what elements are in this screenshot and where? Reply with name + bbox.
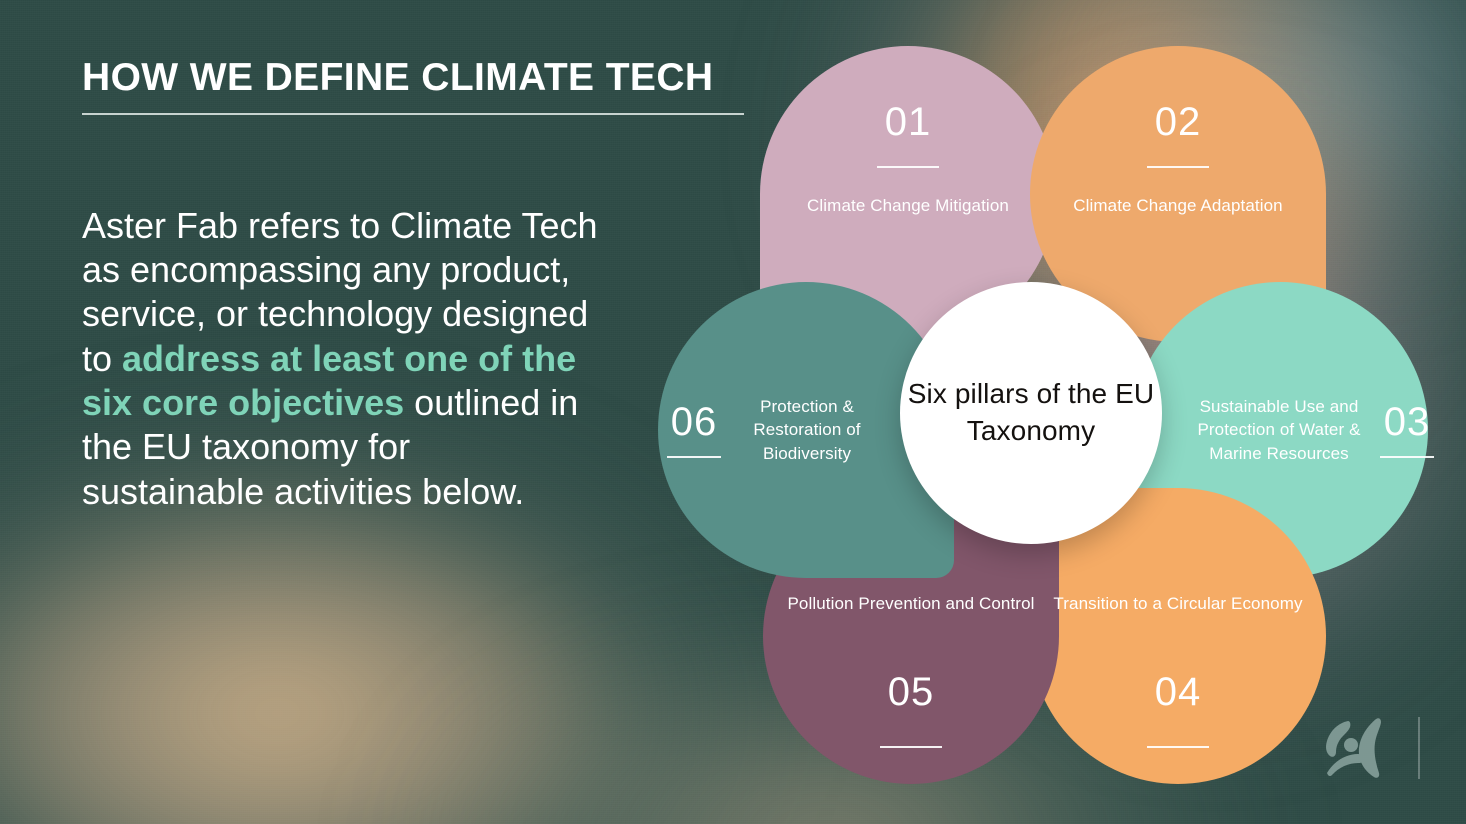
body-paragraph: Aster Fab refers to Climate Tech as enco… — [82, 204, 602, 514]
petal-04-divider — [1147, 746, 1209, 748]
diagram-center-hub: Six pillars of the EU Taxonomy — [900, 282, 1162, 544]
text-column: HOW WE DEFINE CLIMATE TECH Aster Fab ref… — [82, 58, 642, 514]
aster-fab-mark-icon — [1318, 709, 1396, 786]
petal-02-divider — [1147, 166, 1209, 168]
logo-divider — [1418, 717, 1420, 779]
petal-02-number: 02 — [1155, 102, 1202, 142]
petal-06-number: 06 — [671, 402, 718, 442]
petal-01-divider — [877, 166, 939, 168]
petal-03-divider — [1380, 456, 1434, 458]
petal-05-divider — [880, 746, 942, 748]
page-title: HOW WE DEFINE CLIMATE TECH — [82, 58, 642, 99]
petal-04-number: 04 — [1155, 672, 1202, 712]
petal-03-label: Sustainable Use and Protection of Water … — [1194, 395, 1364, 465]
petal-01-number: 01 — [885, 102, 932, 142]
petal-05-number: 05 — [888, 672, 935, 712]
petal-06-label: Protection & Restoration of Biodiversity — [737, 395, 877, 465]
petal-06-divider — [667, 456, 721, 458]
brand-logo — [1318, 709, 1420, 786]
petal-02-label: Climate Change Adaptation — [1073, 194, 1282, 217]
petal-03-number: 03 — [1384, 402, 1431, 442]
petal-04-label: Transition to a Circular Economy — [1053, 592, 1302, 615]
petal-05-label: Pollution Prevention and Control — [787, 592, 1034, 615]
petal-01-label: Climate Change Mitigation — [807, 194, 1009, 217]
diagram-center-label: Six pillars of the EU Taxonomy — [900, 376, 1162, 450]
six-pillars-diagram: 01 Climate Change Mitigation 02 Climate … — [630, 28, 1430, 800]
